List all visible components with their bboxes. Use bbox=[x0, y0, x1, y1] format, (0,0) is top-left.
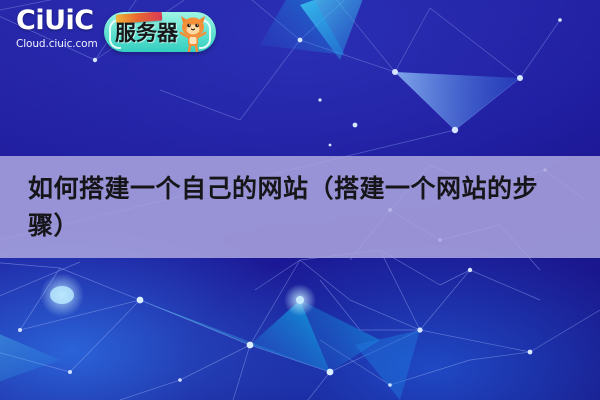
page-title: 如何搭建一个自己的网站（搭建一个网站的步骤） bbox=[28, 170, 576, 244]
banner-header: CiUiC Cloud.ciuic.com 服务器 bbox=[0, 0, 600, 70]
logo-tagline: Cloud.ciuic.com bbox=[16, 38, 112, 50]
server-badge: 服务器 bbox=[104, 12, 216, 52]
badge-label: 服务器 bbox=[115, 21, 178, 45]
site-logo[interactable]: CiUiC Cloud.ciuic.com bbox=[16, 7, 112, 50]
article-cover-banner: CiUiC Cloud.ciuic.com 服务器 bbox=[0, 0, 600, 400]
title-band: 如何搭建一个自己的网站（搭建一个网站的步骤） bbox=[0, 156, 600, 258]
logo-wordmark: CiUiC bbox=[16, 7, 112, 35]
cat-mascot-icon bbox=[176, 14, 210, 52]
